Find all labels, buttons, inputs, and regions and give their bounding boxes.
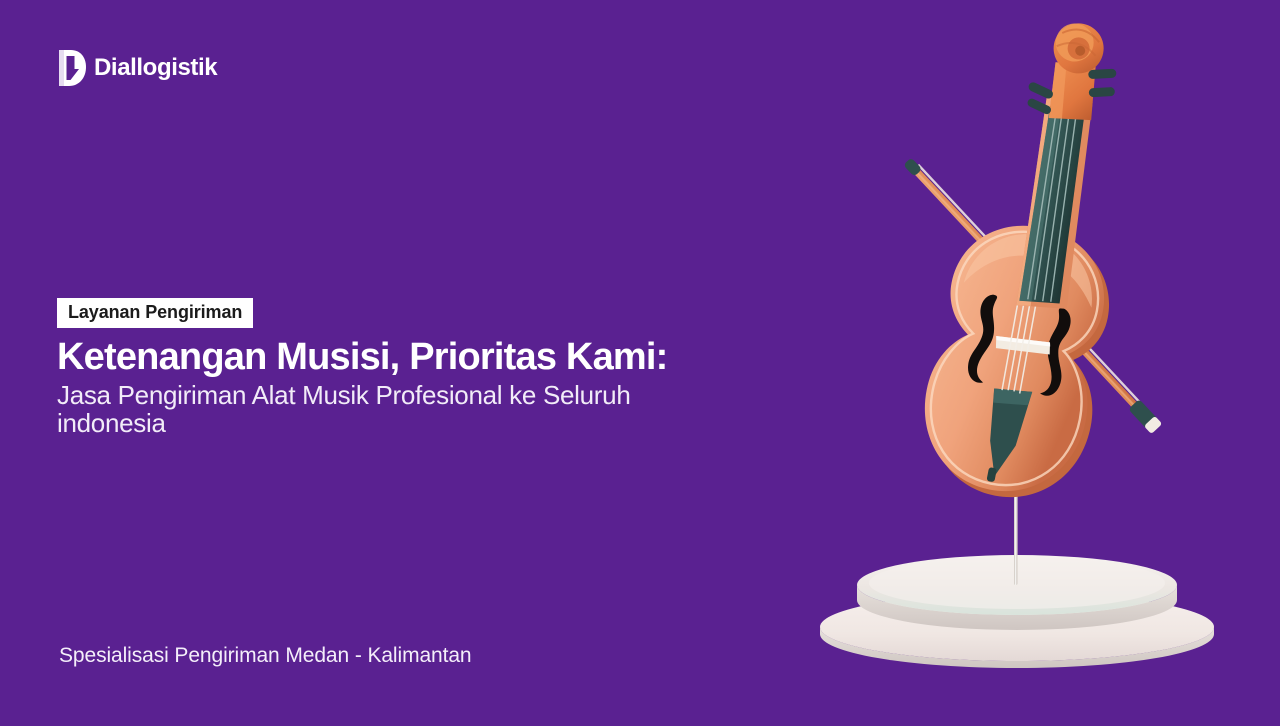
brand-logo[interactable]: Diallogistik	[57, 48, 217, 88]
eyebrow-badge: Layanan Pengiriman	[57, 298, 253, 328]
hero-banner: Diallogistik	[0, 0, 1280, 726]
violin-scroll	[1049, 19, 1108, 78]
pedestal-base-disc	[820, 593, 1214, 668]
violin-pedestal-illustration	[810, 0, 1280, 726]
brand-name: Diallogistik	[94, 56, 217, 80]
hero-copy: Layanan Pengiriman Ketenangan Musisi, Pr…	[57, 298, 777, 437]
violin-body	[909, 212, 1126, 511]
violin-fingerboard	[1013, 103, 1097, 308]
violin-pegbox	[1022, 53, 1120, 130]
hero-footnote: Spesialisasi Pengiriman Medan - Kalimant…	[59, 644, 472, 668]
hero-subtitle: Jasa Pengiriman Alat Musik Profesional k…	[57, 381, 717, 437]
violin-bridge	[994, 332, 1052, 358]
diallogistik-arrow-mark-icon	[57, 48, 87, 88]
page-title: Ketenangan Musisi, Prioritas Kami:	[57, 337, 777, 379]
violin-endpin	[1014, 480, 1018, 585]
violin-tailpiece	[977, 385, 1033, 486]
pedestal-top-disc	[857, 555, 1177, 630]
violin-f-holes	[965, 292, 1074, 398]
violin-bow	[902, 156, 1163, 434]
violin-neck	[1007, 93, 1107, 315]
